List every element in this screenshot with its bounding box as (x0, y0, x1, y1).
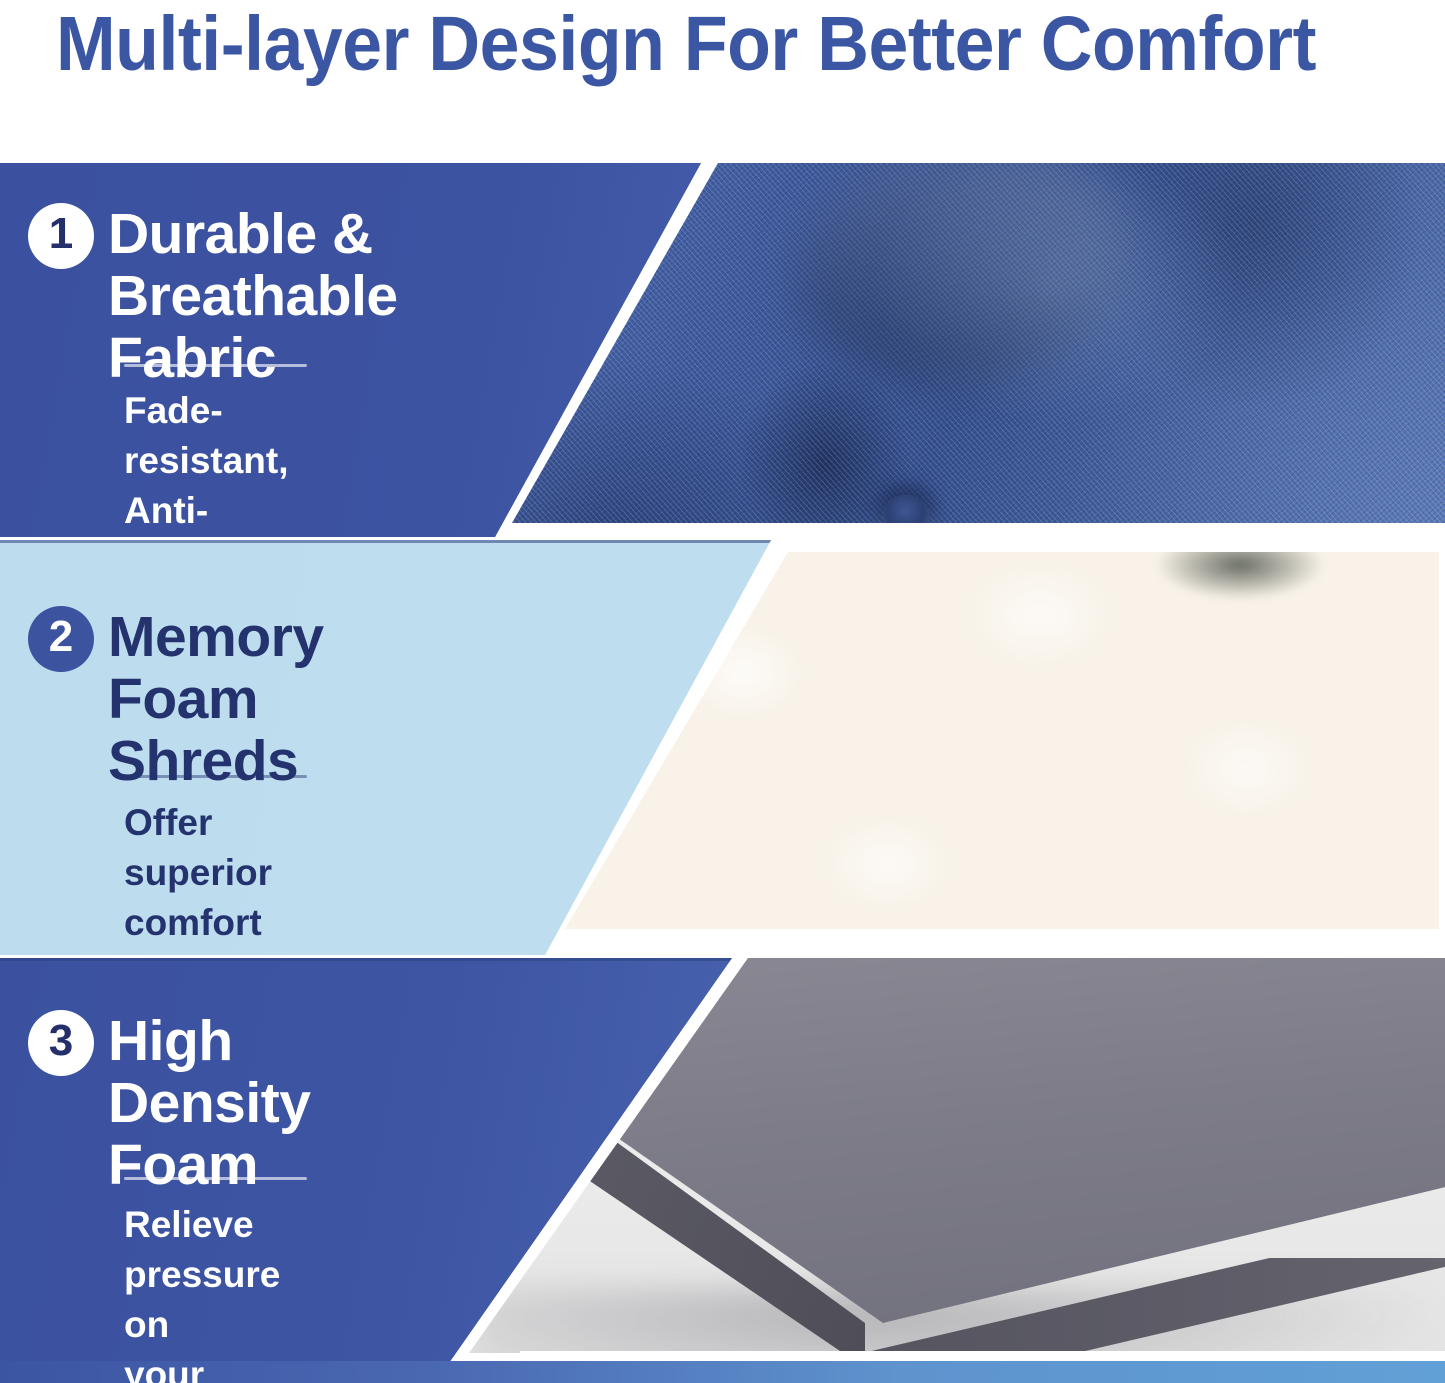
title-bar: Multi-layer Design For Better Comfort (0, 0, 1445, 163)
panel-2-subtitle: Offer superior comfort and support (124, 798, 272, 955)
feature-panel-3: 3 High Density Foam Relieve pressure on … (0, 958, 1445, 1383)
panel-3-subtitle: Relieve pressure on your hips and tailbo… (124, 1200, 280, 1383)
panel-2-number: 2 (49, 615, 73, 659)
feature-panel-1: 1 Durable & Breathable Fabric Fade-resis… (0, 163, 1445, 537)
page-title: Multi-layer Design For Better Comfort (56, 0, 1316, 92)
panel-3-heading-row: 3 High Density Foam (28, 1010, 310, 1196)
panel-1-number-badge: 1 (28, 203, 94, 269)
panel-1-number: 1 (49, 212, 73, 256)
panel-2-divider (124, 775, 307, 778)
panel-1-divider (124, 364, 307, 367)
feature-panel-2: 2 Memory Foam Shreds Offer superior comf… (0, 540, 1445, 955)
bottom-photo-edge (520, 1351, 1445, 1361)
panel-3-number-badge: 3 (28, 1010, 94, 1076)
panel-2-number-badge: 2 (28, 606, 94, 672)
panel-2-heading-row: 2 Memory Foam Shreds (28, 606, 324, 792)
panel-1-subtitle: Fade-resistant, Anti-pilling (124, 386, 289, 537)
panel-3-heading: High Density Foam (108, 1010, 310, 1196)
panel-2-heading: Memory Foam Shreds (108, 606, 324, 792)
panel-3-number: 3 (49, 1019, 73, 1063)
panel-3-divider (124, 1177, 307, 1180)
panel-1-heading-row: 1 Durable & Breathable Fabric (28, 203, 398, 389)
panel-1-heading: Durable & Breathable Fabric (108, 203, 398, 389)
